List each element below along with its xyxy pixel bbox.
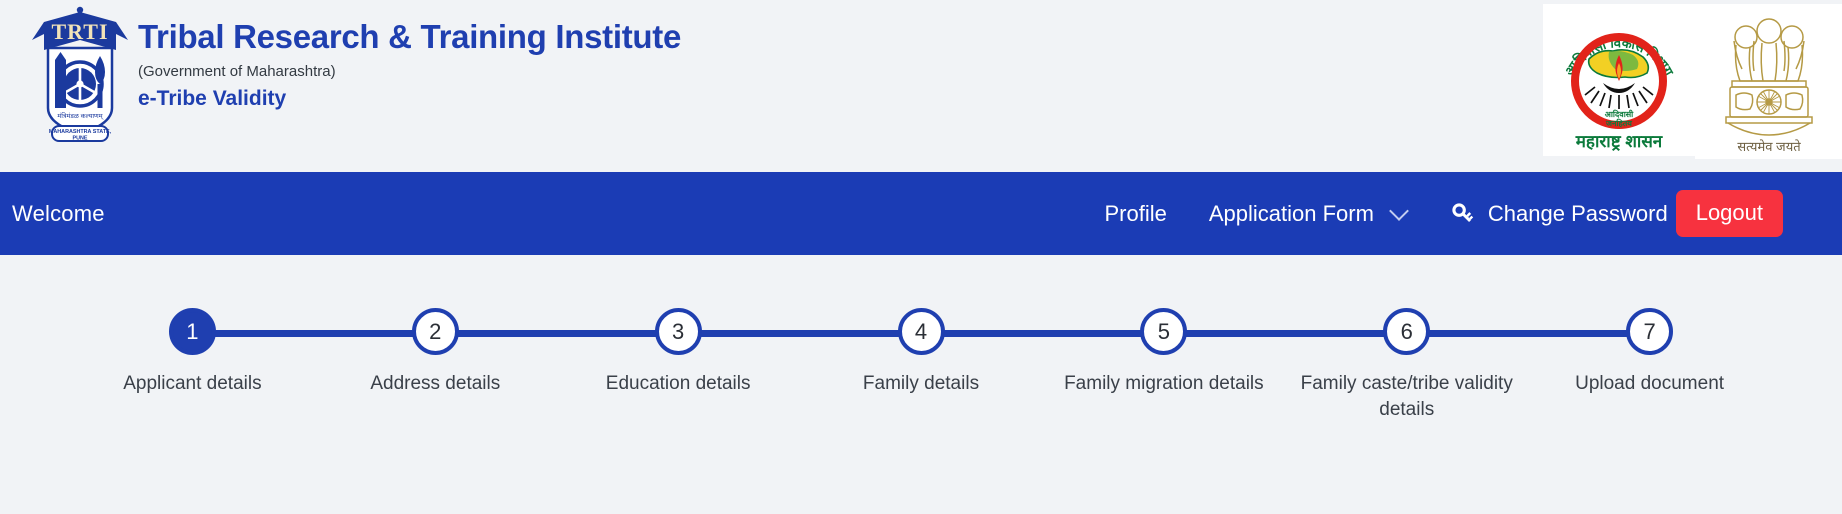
svg-text:जनहितय: जनहितय — [1605, 118, 1632, 128]
tribal-development-department-logo: आदिवासी विकास विभाग आदिवासी — [1543, 4, 1695, 156]
step-label-7: Upload document — [1575, 371, 1724, 397]
step-label-3: Education details — [606, 371, 751, 397]
welcome-text: Welcome — [12, 201, 105, 227]
step-circle-2[interactable]: 2 — [412, 308, 459, 355]
nav-profile-label: Profile — [1104, 201, 1166, 227]
step-7[interactable]: 7Upload document — [1528, 308, 1771, 397]
wizard-progress-section: 1Applicant details2Address details3Educa… — [0, 255, 1842, 422]
logout-button[interactable]: Logout — [1676, 190, 1783, 237]
nav-item-change-password[interactable]: Change Password — [1450, 201, 1668, 227]
navbar-menu: Profile Application Form Change Password — [1104, 172, 1842, 255]
brand-text-block: Tribal Research & Training Institute (Go… — [138, 4, 681, 110]
svg-text:आदिवासी: आदिवासी — [1605, 109, 1634, 119]
nav-change-password-label: Change Password — [1488, 201, 1668, 227]
nav-item-application-form[interactable]: Application Form — [1209, 201, 1406, 227]
step-label-1: Applicant details — [123, 371, 261, 397]
emblem-caption: सत्यमेव जयते — [1737, 139, 1801, 154]
step-1[interactable]: 1Applicant details — [71, 308, 314, 397]
main-navbar: Welcome Profile Application Form — [0, 172, 1842, 255]
step-circle-7[interactable]: 7 — [1626, 308, 1673, 355]
brand-block[interactable]: TRTI मंत्रिमंडळ कल्याणम् MAHARASHTRA STA — [0, 0, 681, 144]
site-title: Tribal Research & Training Institute — [138, 20, 681, 55]
step-4[interactable]: 4Family details — [800, 308, 1043, 397]
site-subtitle: (Government of Maharashtra) — [138, 64, 681, 81]
step-label-4: Family details — [863, 371, 979, 397]
step-label-5: Family migration details — [1064, 371, 1264, 397]
key-icon — [1450, 201, 1476, 227]
step-label-2: Address details — [370, 371, 500, 397]
step-3[interactable]: 3Education details — [557, 308, 800, 397]
step-6[interactable]: 6Family caste/tribe validity details — [1285, 308, 1528, 422]
app-name: e-Tribe Validity — [138, 87, 681, 110]
svg-text:TRTI: TRTI — [51, 19, 108, 44]
step-2[interactable]: 2Address details — [314, 308, 557, 397]
india-state-emblem: सत्यमेव जयते — [1695, 4, 1842, 159]
dept-logo-caption: महाराष्ट्र शासन — [1575, 132, 1663, 151]
svg-text:मंत्रिमंडळ कल्याणम्: मंत्रिमंडळ कल्याणम् — [57, 112, 103, 120]
step-circle-6[interactable]: 6 — [1383, 308, 1430, 355]
header-logos: आदिवासी विकास विभाग आदिवासी — [1543, 4, 1842, 159]
nav-application-form-label: Application Form — [1209, 201, 1374, 227]
svg-text:MAHARASHTRA STATE,: MAHARASHTRA STATE, — [49, 129, 112, 135]
step-circle-3[interactable]: 3 — [655, 308, 702, 355]
step-progress-bar: 1Applicant details2Address details3Educa… — [71, 308, 1771, 422]
chevron-down-icon — [1389, 201, 1409, 221]
nav-item-profile[interactable]: Profile — [1104, 201, 1166, 227]
svg-text:PUNE: PUNE — [73, 136, 88, 142]
site-header: TRTI मंत्रिमंडळ कल्याणम् MAHARASHTRA STA — [0, 0, 1842, 172]
step-circle-5[interactable]: 5 — [1140, 308, 1187, 355]
step-5[interactable]: 5Family migration details — [1042, 308, 1285, 397]
trti-logo-icon: TRTI मंत्रिमंडळ कल्याणम् MAHARASHTRA STA — [26, 4, 134, 144]
step-circle-4[interactable]: 4 — [898, 308, 945, 355]
step-label-6: Family caste/tribe validity details — [1285, 371, 1528, 422]
step-circle-1[interactable]: 1 — [169, 308, 216, 355]
